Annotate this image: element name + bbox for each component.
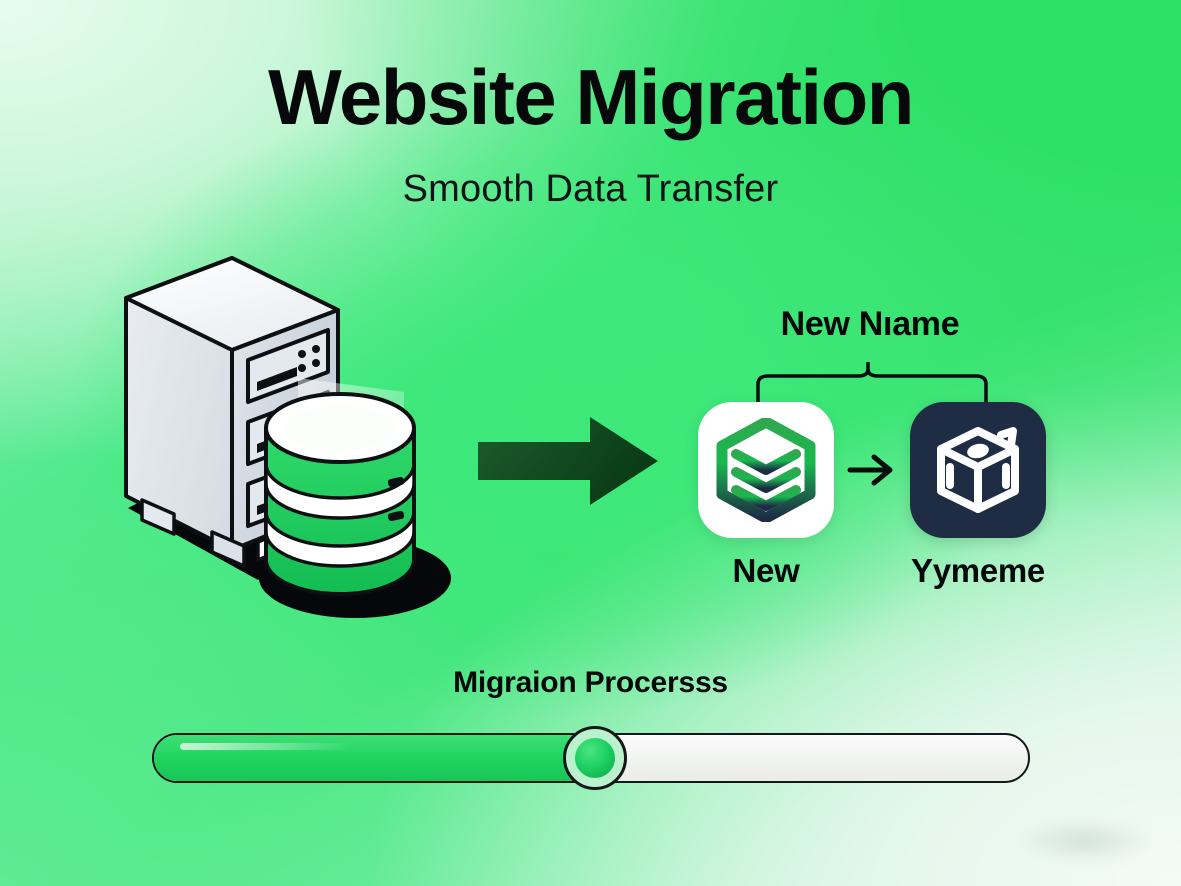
- illustration-canvas: Website Migration Smooth Data Transfer: [0, 0, 1181, 886]
- progress-bar-handle[interactable]: [563, 726, 627, 790]
- app-icon-row: [698, 402, 1046, 538]
- app-tile-destination[interactable]: [910, 402, 1046, 538]
- progress-label: Migraion Procersss: [0, 666, 1181, 700]
- background-smudge-artifact: [1005, 818, 1165, 864]
- server-rack-illustration: [112, 250, 492, 650]
- app-name-destination: Yymeme: [910, 552, 1046, 590]
- isometric-box-icon: [931, 421, 1025, 519]
- page-title: Website Migration: [0, 58, 1181, 136]
- group-label: New Nıame: [700, 305, 1040, 344]
- between-apps-arrow-icon: [846, 446, 898, 494]
- app-name-new: New: [698, 552, 834, 590]
- app-name-row: New Yymeme: [698, 552, 1046, 598]
- progress-bar-sheen: [180, 743, 350, 750]
- stacked-layers-hexagon-icon: [714, 418, 818, 522]
- progress-bar-fill: [154, 735, 598, 781]
- page-subtitle: Smooth Data Transfer: [0, 170, 1181, 208]
- transfer-arrow: [478, 415, 658, 507]
- app-tile-new[interactable]: [698, 402, 834, 538]
